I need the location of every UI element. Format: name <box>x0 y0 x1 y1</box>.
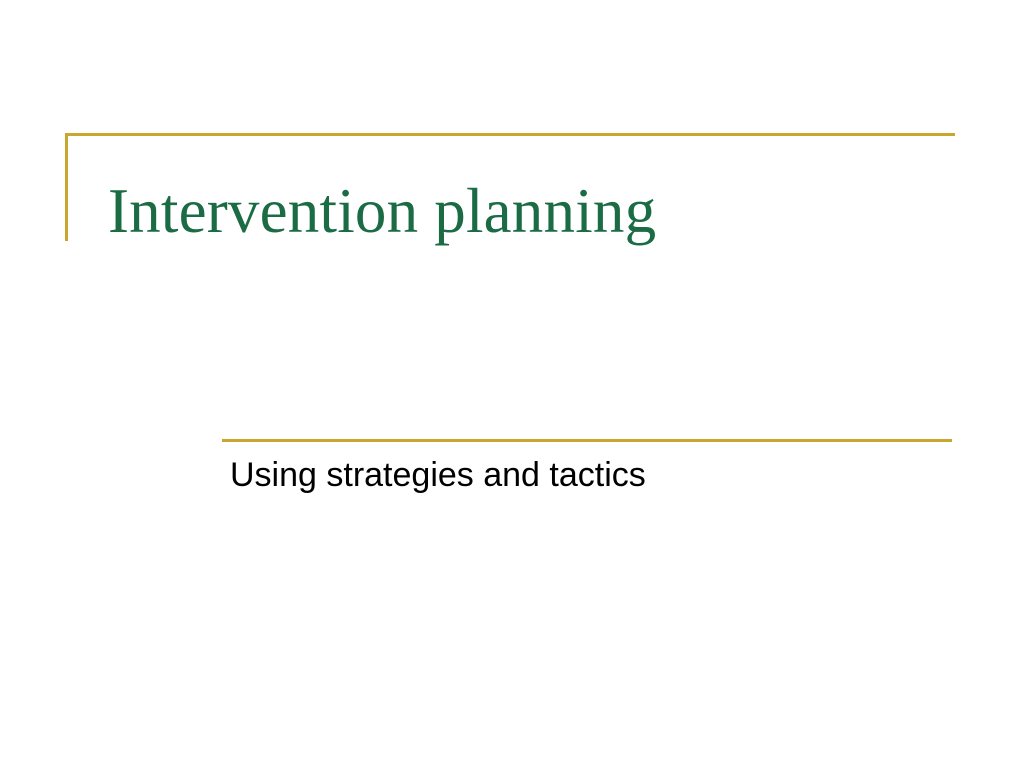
slide-content-area <box>0 520 1024 768</box>
subtitle-rule-horizontal <box>222 439 952 442</box>
slide-subtitle: Using strategies and tactics <box>230 455 970 496</box>
presentation-slide: Intervention planning Using strategies a… <box>0 0 1024 768</box>
subtitle-block: Using strategies and tactics <box>0 0 1024 560</box>
